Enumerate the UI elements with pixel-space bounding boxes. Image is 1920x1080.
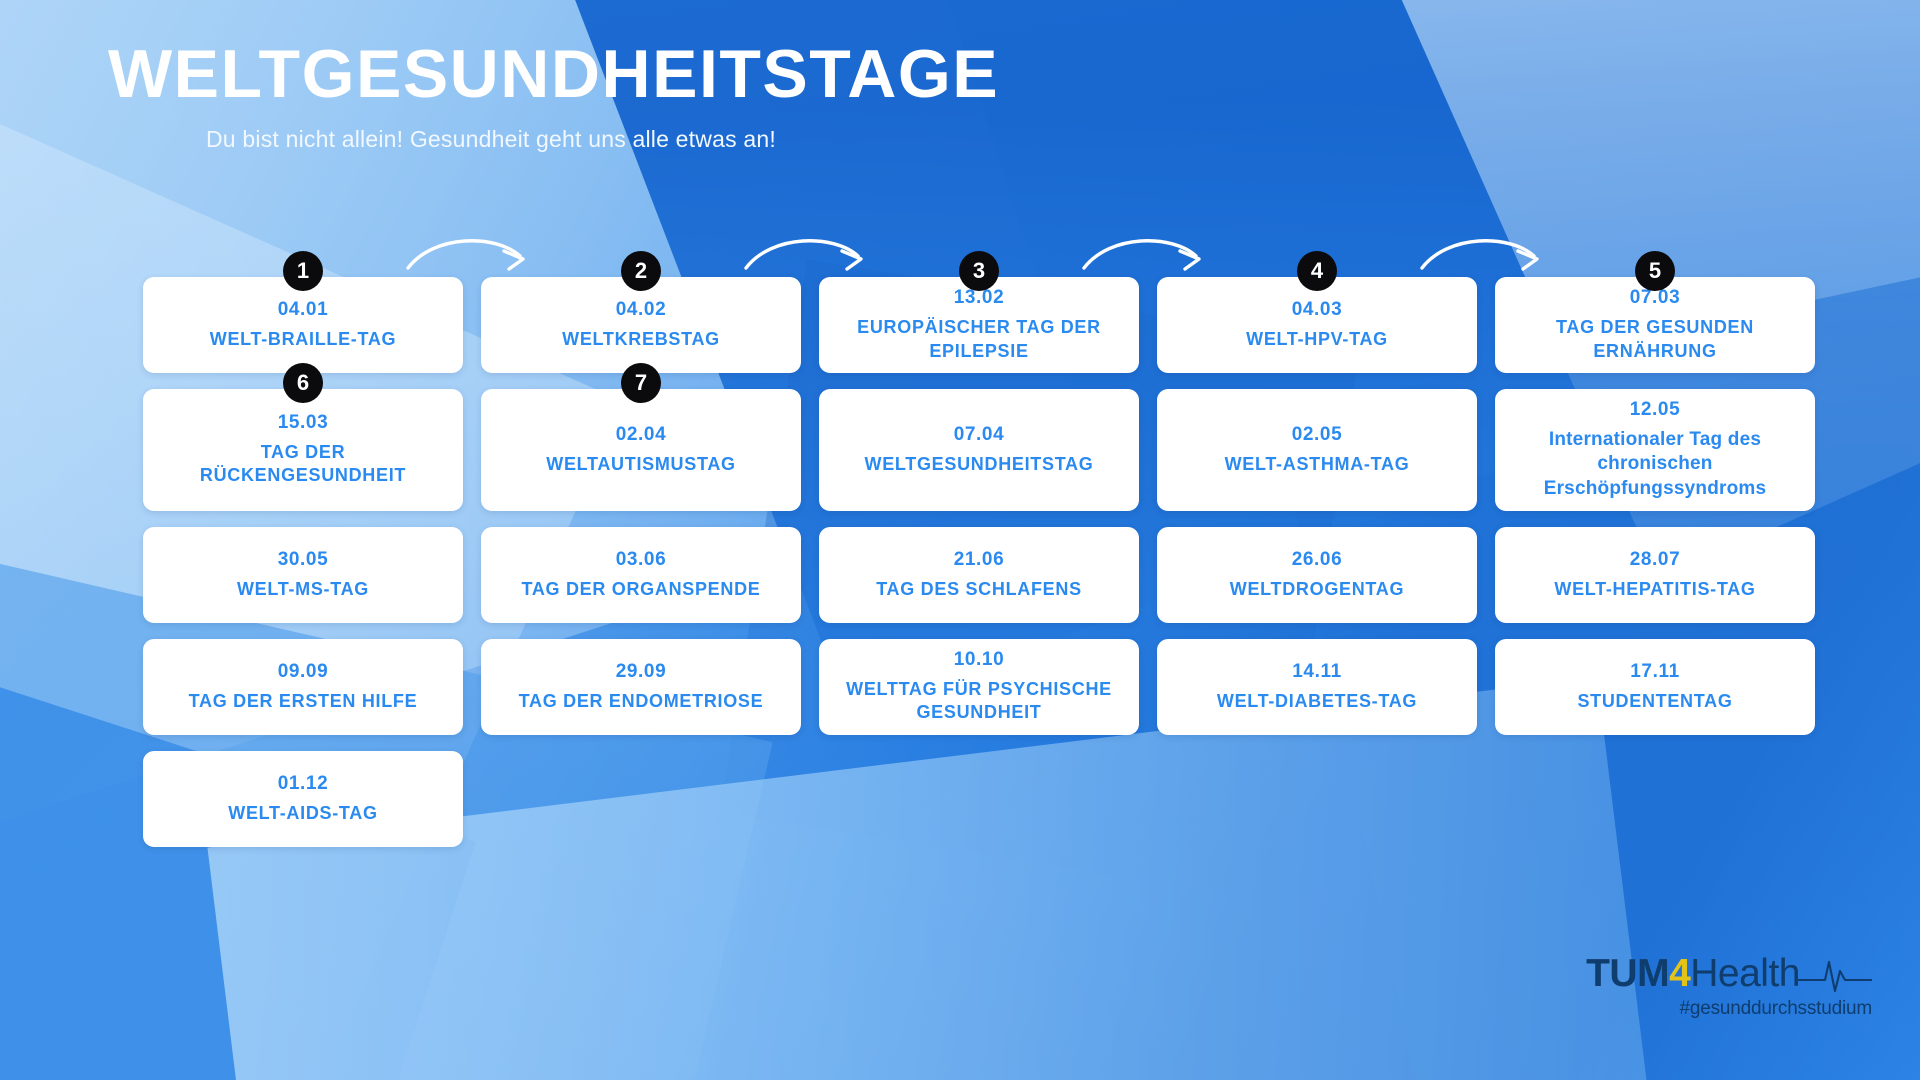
health-day-card[interactable]: 30.05WELT-MS-TAG [143,527,463,623]
logo-tagline: #gesunddurchsstudium [1586,998,1872,1020]
card-title: WELTAUTISMUSTAG [546,453,735,476]
card-date: 04.02 [616,299,667,321]
health-day-card[interactable]: 12.05Internationaler Tag des chronischen… [1495,389,1815,511]
card-date: 04.03 [1292,299,1343,321]
health-day-card[interactable]: 29.09TAG DER ENDOMETRIOSE [481,639,801,735]
card-date: 10.10 [954,649,1005,671]
health-days-grid: 104.01WELT-BRAILLE-TAG204.02WELTKREBSTAG… [143,277,1815,847]
card-date: 09.09 [278,661,329,683]
health-day-card[interactable]: 26.06WELTDROGENTAG [1157,527,1477,623]
step-badge: 2 [621,251,661,291]
card-date: 02.05 [1292,424,1343,446]
health-day-card[interactable]: 104.01WELT-BRAILLE-TAG [143,277,463,373]
card-title: WELTKREBSTAG [562,328,720,351]
card-title: WELTTAG FÜR PSYCHISCHE GESUNDHEIT [833,678,1125,724]
health-day-card[interactable]: 404.03WELT-HPV-TAG [1157,277,1477,373]
health-day-card[interactable]: 204.02WELTKREBSTAG [481,277,801,373]
health-day-card[interactable]: 14.11WELT-DIABETES-TAG [1157,639,1477,735]
tum4health-logo: TUM4Health #gesunddurchsstudium [1586,954,1872,1020]
card-title: WELT-DIABETES-TAG [1217,690,1417,713]
card-title: WELTDROGENTAG [1230,578,1404,601]
card-title: WELTGESUNDHEITSTAG [865,453,1094,476]
step-badge: 7 [621,363,661,403]
logo-four-text: 4 [1669,952,1690,995]
health-day-card[interactable]: 09.09TAG DER ERSTEN HILFE [143,639,463,735]
card-title: TAG DER RÜCKENGESUNDHEIT [157,441,449,487]
card-title: TAG DER GESUNDEN ERNÄHRUNG [1509,316,1801,362]
logo-health-text: Health [1690,952,1800,995]
health-day-card[interactable]: 03.06TAG DER ORGANSPENDE [481,527,801,623]
card-title: WELT-BRAILLE-TAG [210,328,397,351]
page-title: WELTGESUNDHEITSTAGE [108,40,1308,108]
card-date: 04.01 [278,299,329,321]
step-badge: 3 [959,251,999,291]
card-date: 21.06 [954,549,1005,571]
health-day-card[interactable]: 17.11STUDENTENTAG [1495,639,1815,735]
card-date: 17.11 [1630,661,1680,683]
health-day-card[interactable]: 10.10WELTTAG FÜR PSYCHISCHE GESUNDHEIT [819,639,1139,735]
card-title: WELT-ASTHMA-TAG [1225,453,1410,476]
pulse-line-icon [1798,958,1872,992]
health-day-card[interactable]: 615.03TAG DER RÜCKENGESUNDHEIT [143,389,463,511]
health-day-card[interactable]: 02.05WELT-ASTHMA-TAG [1157,389,1477,511]
header: WELTGESUNDHEITSTAGE Du bist nicht allein… [108,40,1308,153]
health-day-card[interactable]: 21.06TAG DES SCHLAFENS [819,527,1139,623]
step-badge: 6 [283,363,323,403]
card-date: 01.12 [278,773,329,795]
card-title: TAG DER ERSTEN HILFE [189,690,418,713]
card-title: TAG DES SCHLAFENS [876,578,1082,601]
card-title: WELT-HPV-TAG [1246,328,1388,351]
card-date: 02.04 [616,424,667,446]
card-title: WELT-HEPATITIS-TAG [1554,578,1755,601]
card-title: EUROPÄISCHER TAG DER EPILEPSIE [833,316,1125,362]
health-day-card[interactable]: 507.03TAG DER GESUNDEN ERNÄHRUNG [1495,277,1815,373]
card-title: WELT-MS-TAG [237,578,369,601]
step-badge: 1 [283,251,323,291]
health-day-card[interactable]: 313.02EUROPÄISCHER TAG DER EPILEPSIE [819,277,1139,373]
card-date: 12.05 [1630,399,1681,421]
step-badge: 5 [1635,251,1675,291]
card-title: TAG DER ORGANSPENDE [522,578,761,601]
infographic-canvas: WELTGESUNDHEITSTAGE Du bist nicht allein… [0,0,1920,1080]
health-day-card[interactable]: 01.12WELT-AIDS-TAG [143,751,463,847]
card-date: 30.05 [278,549,329,571]
card-title: WELT-AIDS-TAG [228,802,377,825]
card-date: 03.06 [616,549,667,571]
card-title: Internationaler Tag des chronischen Ersc… [1509,428,1801,501]
card-date: 29.09 [616,661,667,683]
card-date: 26.06 [1292,549,1343,571]
logo-tum-text: TUM [1586,952,1669,995]
card-date: 15.03 [278,412,329,434]
card-title: TAG DER ENDOMETRIOSE [519,690,764,713]
health-day-card[interactable]: 702.04WELTAUTISMUSTAG [481,389,801,511]
logo-wordmark: TUM4Health [1586,954,1872,993]
health-day-card[interactable]: 07.04WELTGESUNDHEITSTAG [819,389,1139,511]
card-date: 07.04 [954,424,1005,446]
card-date: 28.07 [1630,549,1681,571]
card-date: 14.11 [1292,661,1342,683]
step-badge: 4 [1297,251,1337,291]
card-title: STUDENTENTAG [1577,690,1732,713]
page-subtitle: Du bist nicht allein! Gesundheit geht un… [206,126,1308,153]
health-day-card[interactable]: 28.07WELT-HEPATITIS-TAG [1495,527,1815,623]
